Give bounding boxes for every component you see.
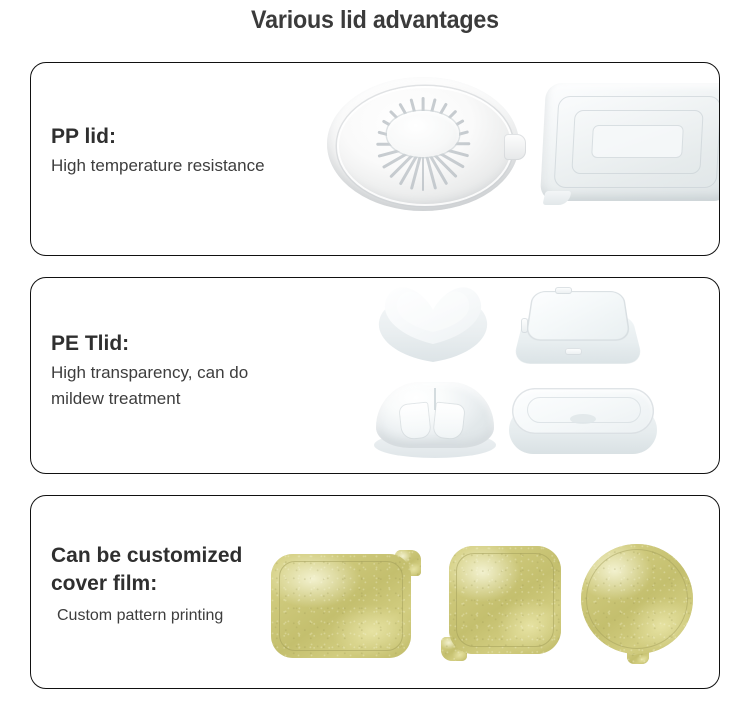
pe-lid-title: PE Tlid: bbox=[51, 332, 248, 356]
rect-foil-tab bbox=[395, 550, 421, 576]
round-lid-ribs bbox=[348, 93, 498, 195]
heart-pe-lid-image bbox=[375, 282, 491, 368]
round-pp-lid-image bbox=[327, 77, 519, 211]
rect-lid-body bbox=[540, 83, 720, 201]
round-gold-foil-image bbox=[581, 544, 705, 664]
square-foil-sheet bbox=[449, 546, 561, 654]
square-foil-tab bbox=[441, 637, 467, 661]
heart-lid-base bbox=[377, 298, 489, 362]
oval-lid-dent bbox=[570, 414, 596, 424]
oval-lid-base bbox=[509, 406, 657, 454]
square-gold-foil-image bbox=[441, 546, 571, 662]
card-pp-lid: PP lid: High temperature resistance bbox=[30, 62, 720, 256]
dome-lid-seam bbox=[434, 388, 436, 410]
square-lid-notch-top bbox=[555, 287, 572, 294]
oval-lid-top bbox=[512, 388, 654, 434]
rect-foil-inner-edge bbox=[279, 561, 403, 651]
dome-pe-lid-image bbox=[373, 382, 497, 458]
rect-lid-ridge-inner bbox=[592, 125, 685, 158]
heart-lid-inner-outline bbox=[395, 288, 473, 334]
rectangular-gold-foil-image bbox=[271, 550, 421, 658]
dome-lid-cap bbox=[376, 382, 494, 448]
oval-lid-center-panel bbox=[527, 397, 641, 423]
pe-lid-product-images bbox=[351, 278, 720, 473]
square-foil-inner-edge bbox=[456, 553, 554, 647]
pe-lid-description-line-1: High transparency, can do bbox=[51, 360, 248, 386]
rect-lid-ridge-mid bbox=[572, 110, 705, 174]
pp-lid-title: PP lid: bbox=[51, 125, 265, 149]
cover-film-title-line-1: Can be customized bbox=[51, 544, 242, 568]
cover-film-title-line-2: cover film: bbox=[51, 572, 242, 596]
pp-lid-description: High temperature resistance bbox=[51, 153, 265, 179]
round-foil-tab bbox=[627, 646, 649, 664]
round-lid-center-hub bbox=[387, 111, 460, 157]
square-lid-notch-left bbox=[521, 318, 528, 333]
dome-lid-facet-right bbox=[433, 403, 464, 440]
square-lid-notch-bottom bbox=[565, 348, 582, 355]
round-lid-disc bbox=[327, 77, 519, 211]
pe-lid-text-block: PE Tlid: High transparency, can do milde… bbox=[51, 332, 248, 413]
pp-lid-text-block: PP lid: High temperature resistance bbox=[51, 125, 265, 179]
square-pe-lid-image bbox=[519, 284, 637, 366]
rect-foil-sheet bbox=[271, 554, 411, 658]
square-lid-top bbox=[525, 291, 631, 341]
dome-lid-base bbox=[374, 432, 496, 458]
card-cover-film: Can be customized cover film: Custom pat… bbox=[30, 495, 720, 689]
cover-film-text-block: Can be customized cover film: Custom pat… bbox=[51, 544, 242, 629]
round-lid-tab bbox=[504, 134, 526, 160]
cover-film-description: Custom pattern printing bbox=[51, 600, 242, 629]
dome-lid-facet-left bbox=[399, 403, 430, 440]
rect-lid-corner-tab bbox=[543, 191, 572, 205]
round-foil-sheet bbox=[581, 544, 693, 654]
round-lid-rim bbox=[337, 86, 514, 205]
card-pe-lid: PE Tlid: High transparency, can do milde… bbox=[30, 277, 720, 474]
round-foil-inner-edge bbox=[586, 549, 688, 649]
oval-pe-lid-image bbox=[509, 388, 657, 454]
rect-lid-ridge-outer bbox=[554, 96, 720, 188]
page-title: Various lid advantages bbox=[26, 6, 724, 35]
pe-lid-description-line-2: mildew treatment bbox=[51, 386, 248, 412]
square-lid-base bbox=[512, 315, 643, 364]
heart-lid-top bbox=[383, 282, 483, 344]
rectangular-pp-lid-image bbox=[543, 83, 720, 201]
